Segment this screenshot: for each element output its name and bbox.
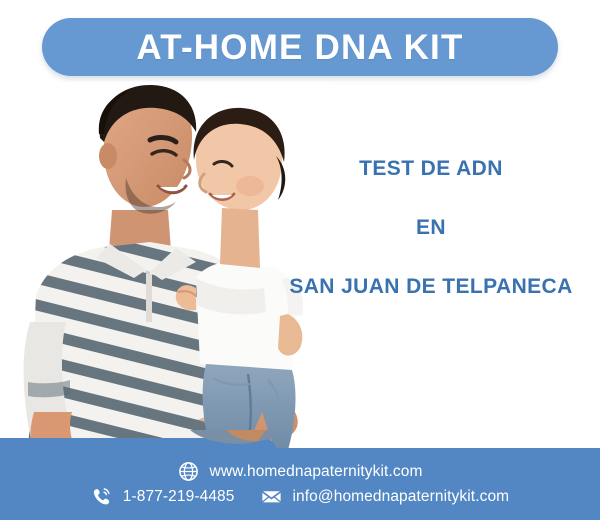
phone-label: 1-877-219-4485 xyxy=(123,488,235,506)
globe-icon xyxy=(178,461,199,482)
envelope-icon xyxy=(261,486,282,507)
headline-line-1: TEST DE ADN xyxy=(262,158,600,179)
headline-line-2: EN xyxy=(262,217,600,238)
headline-line-3: SAN JUAN DE TELPANECA xyxy=(262,276,600,297)
email-label: info@homednapaternitykit.com xyxy=(293,488,510,506)
header-banner: AT-HOME DNA KIT xyxy=(42,18,558,76)
footer-row-website: www.homednapaternitykit.com xyxy=(178,461,423,482)
website-label: www.homednapaternitykit.com xyxy=(210,463,423,481)
contact-phone[interactable]: 1-877-219-4485 xyxy=(91,486,235,507)
page-title: AT-HOME DNA KIT xyxy=(136,30,463,65)
contact-email[interactable]: info@homednapaternitykit.com xyxy=(261,486,510,507)
poster-canvas: AT-HOME DNA KIT xyxy=(0,0,600,520)
footer-row-phone-email: 1-877-219-4485 info@homednapaternitykit.… xyxy=(91,486,509,507)
contact-website[interactable]: www.homednapaternitykit.com xyxy=(178,461,423,482)
headline-block: TEST DE ADN EN SAN JUAN DE TELPANECA xyxy=(262,158,600,297)
footer-contact-info: www.homednapaternitykit.com 1-877-219-44… xyxy=(0,448,600,520)
phone-icon xyxy=(91,486,112,507)
